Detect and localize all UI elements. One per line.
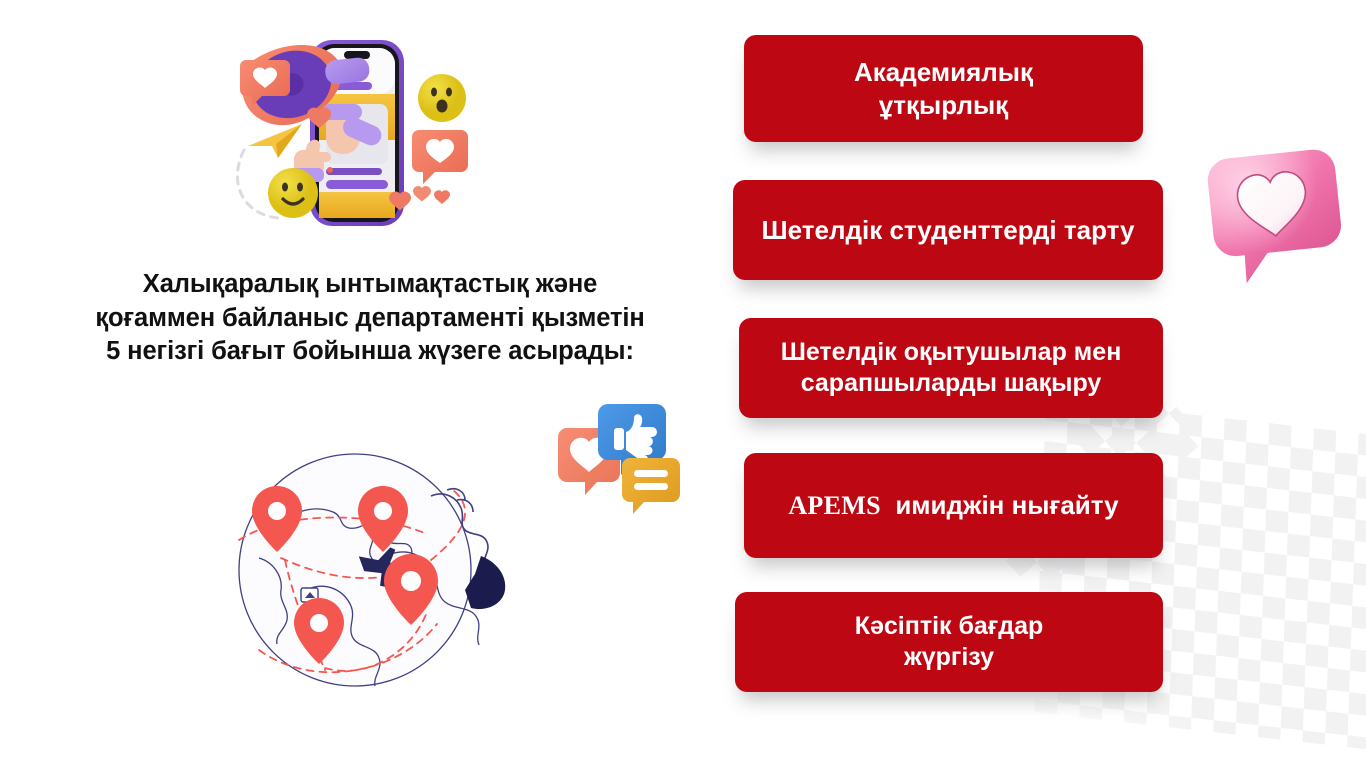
direction-box-strengthen-apems-image[interactable]: APEMS имиджін нығайту xyxy=(744,453,1163,558)
direction-box-attract-foreign-students[interactable]: Шетелдік студенттерді тарту xyxy=(733,180,1163,280)
direction-boxes-list: Академиялық ұтқырлық Шетелдік студенттер… xyxy=(0,0,1366,768)
box1-line-1: Академиялық xyxy=(854,56,1033,89)
box2-line-1: Шетелдік студенттерді тарту xyxy=(762,214,1135,247)
apems-brand-label: APEMS xyxy=(788,491,881,520)
direction-box-career-guidance[interactable]: Кәсіптік бағдар жүргізу xyxy=(735,592,1163,692)
box5-line-1: Кәсіптік бағдар xyxy=(855,611,1044,643)
box1-line-2: ұтқырлық xyxy=(854,89,1033,122)
box4-line-1-text: имиджін нығайту xyxy=(895,490,1118,520)
box4-line-1: APEMS имиджін нығайту xyxy=(788,489,1118,523)
box5-line-2: жүргізу xyxy=(855,642,1044,674)
direction-box-academic-mobility[interactable]: Академиялық ұтқырлық xyxy=(744,35,1143,142)
direction-box-invite-foreign-teachers[interactable]: Шетелдік оқытушылар мен сарапшыларды шақ… xyxy=(739,318,1163,418)
box3-line-1: Шетелдік оқытушылар мен xyxy=(781,337,1122,369)
box3-line-2: сарапшыларды шақыру xyxy=(781,368,1122,400)
slide-canvas: Халықаралық ынтымақтастық және қоғаммен … xyxy=(0,0,1366,768)
